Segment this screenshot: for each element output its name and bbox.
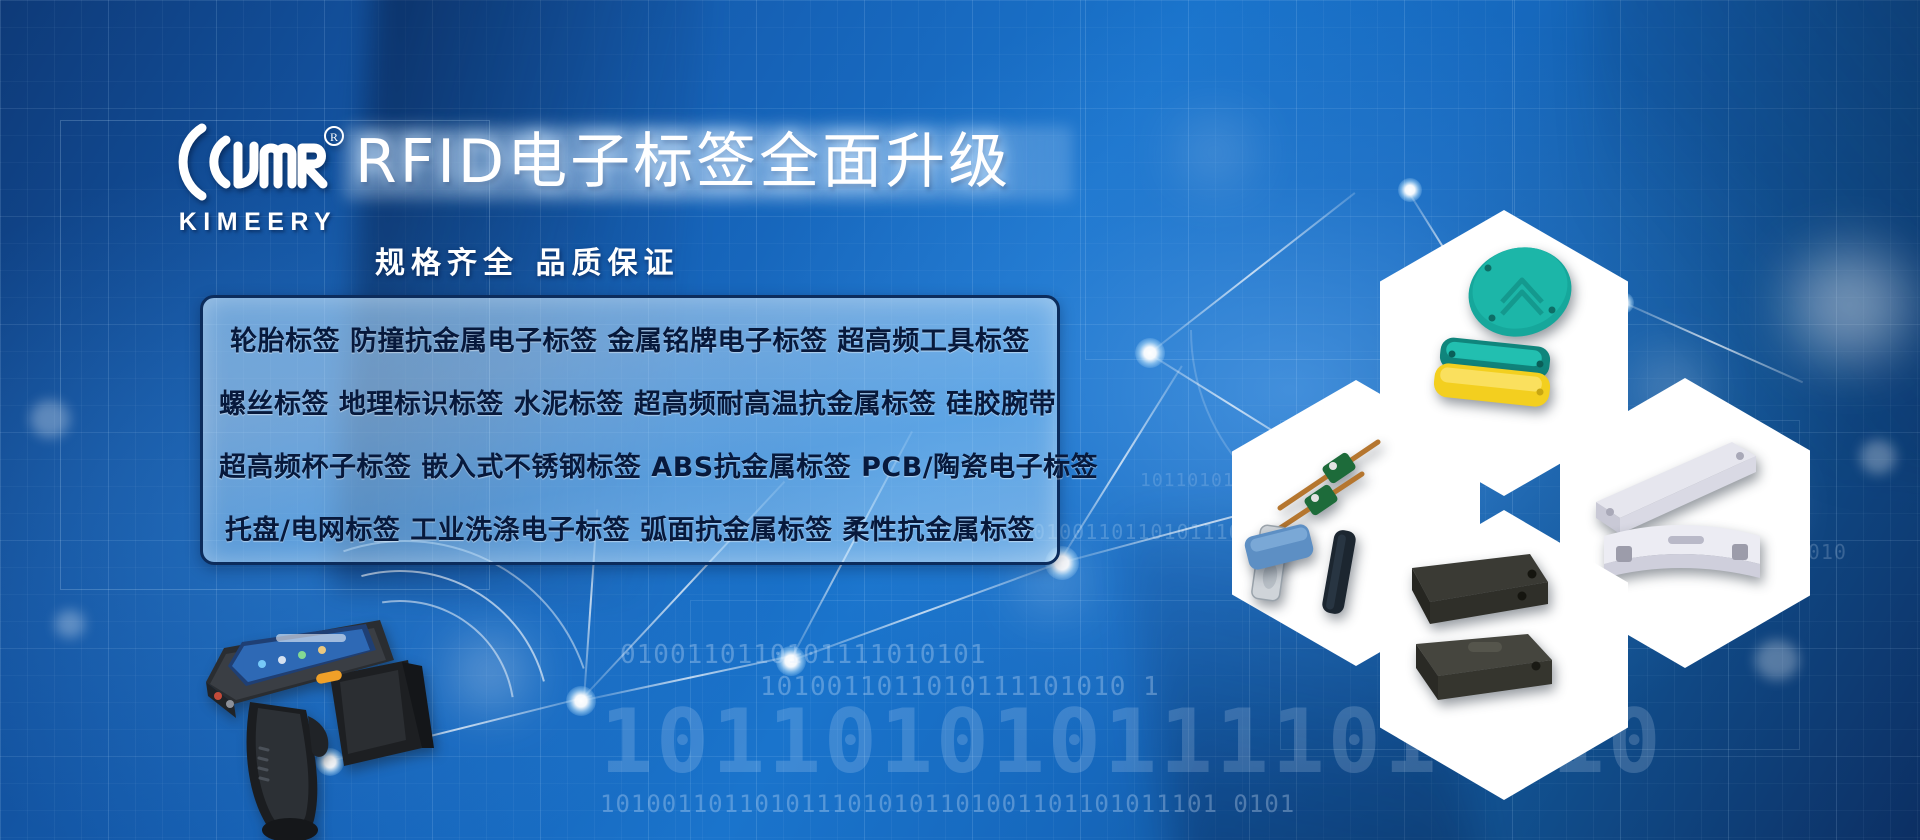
svg-text:R: R (330, 130, 338, 144)
network-line-12 (1620, 300, 1804, 383)
headline-text: RFID电子标签全面升级 (355, 128, 1011, 197)
network-node-3 (776, 646, 806, 676)
kimeery-logo-mark: R (168, 120, 348, 204)
background-frame-rect-4 (690, 600, 1250, 840)
binary-text-3: 1010011011010111010101101001101101011101… (600, 790, 1295, 818)
binary-text-1: 0100110110101111010101 (620, 640, 986, 670)
headline-group: RFID电子标签全面升级 (355, 128, 1011, 197)
handheld-rfid-reader-icon (190, 598, 490, 840)
background-soft-dot-4 (30, 400, 70, 438)
binary-text-2: 1010011011010111101010 1 (760, 672, 1160, 702)
network-line-1 (1149, 192, 1355, 354)
network-node-1 (1135, 338, 1165, 368)
background-soft-dot-5 (55, 610, 85, 638)
product-list-row: 超高频杯子标签 嵌入式不锈钢标签 ABS抗金属标签 PCB/陶瓷电子标签 (219, 453, 1041, 483)
network-line-5 (790, 563, 1058, 662)
background-glow-5 (1180, 120, 1250, 186)
kimeery-brand-name: KIMEERY (168, 208, 348, 237)
handheld-rfid-reader[interactable] (190, 598, 490, 840)
product-list-row: 轮胎标签 防撞抗金属电子标签 金属铭牌电子标签 超高频工具标签 (219, 327, 1041, 357)
network-node-6 (1398, 178, 1422, 202)
product-category-list-box: 轮胎标签 防撞抗金属电子标签 金属铭牌电子标签 超高频工具标签 螺丝标签 地理标… (200, 295, 1060, 565)
network-line-7 (580, 653, 801, 702)
product-list-row: 螺丝标签 地理标识标签 水泥标签 超高频耐高温抗金属标签 硅胶腕带 (219, 390, 1041, 420)
background-soft-dot-1 (1860, 440, 1896, 474)
product-list-row: 托盘/电网标签 工业洗涤电子标签 弧面抗金属标签 柔性抗金属标签 (219, 516, 1041, 546)
subheadline-text: 规格齐全 品质保证 (375, 238, 679, 282)
rfid-promo-banner: 0100110110101111010101 10100110110101111… (0, 0, 1920, 840)
kimeery-logo[interactable]: R KIMEERY (168, 120, 348, 237)
background-soft-dot-3 (1755, 640, 1799, 680)
background-glow-1 (1790, 250, 1910, 360)
network-node-4 (566, 686, 596, 716)
